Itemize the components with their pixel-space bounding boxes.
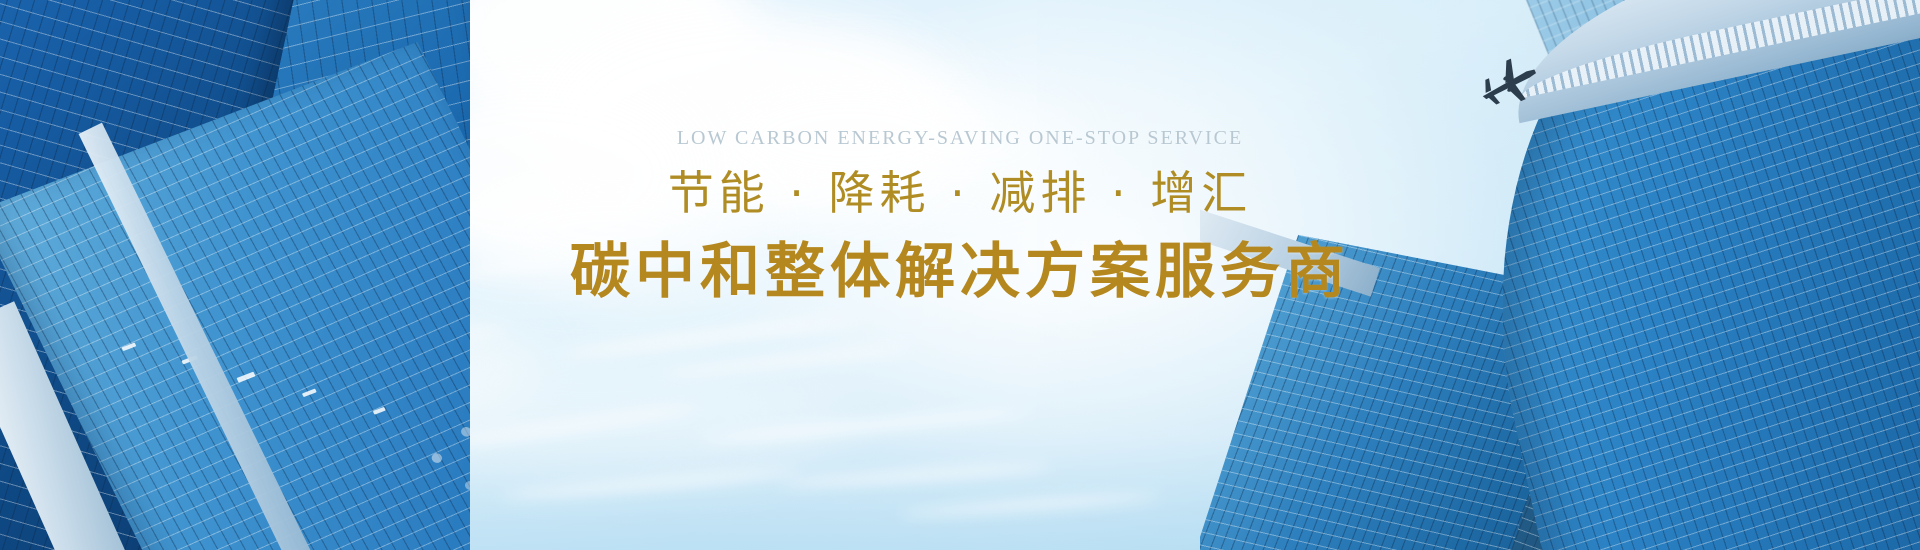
hero-banner: LOW CARBON ENERGY-SAVING ONE-STOP SERVIC… — [0, 0, 1920, 550]
left-skyscrapers — [0, 0, 470, 550]
window-highlight — [373, 407, 386, 415]
window-highlight — [121, 343, 136, 352]
window-highlight — [236, 372, 255, 383]
airplane-icon — [1472, 58, 1544, 110]
window-highlight — [430, 452, 444, 465]
window-highlight — [459, 426, 470, 439]
window-highlight — [463, 480, 470, 491]
cloud — [840, 90, 1080, 200]
window-highlight — [302, 389, 317, 398]
right-skyscrapers — [1200, 0, 1920, 550]
